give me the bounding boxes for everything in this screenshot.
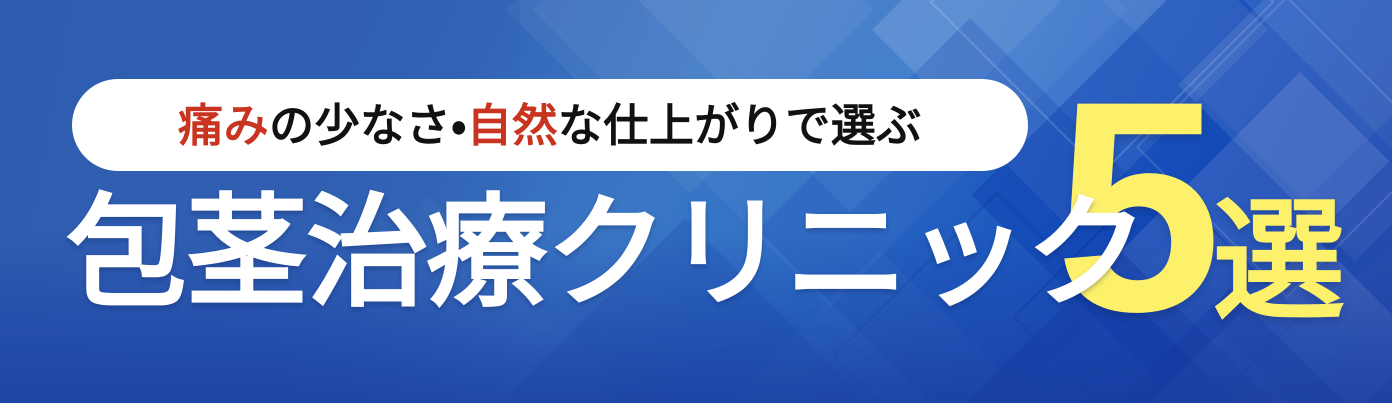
subtitle-highlight-pain: 痛み [178, 100, 269, 151]
subtitle-plain-2: な仕上がりで選ぶ [558, 100, 922, 151]
subtitle-highlight-natural: 自然 [467, 100, 558, 151]
subtitle-pill: 痛みの少なさ・自然な仕上がりで選ぶ [72, 79, 1028, 171]
promo-banner: 痛みの少なさ・自然な仕上がりで選ぶ 包茎治療クリニック 5 選 [0, 0, 1392, 403]
subtitle-text: 痛みの少なさ・自然な仕上がりで選ぶ [178, 103, 922, 148]
count-suffix-label: 選 [1213, 196, 1345, 328]
headline: 包茎治療クリニック [66, 192, 1146, 314]
headline-text: 包茎治療クリニック [66, 185, 1146, 321]
subtitle-plain-1: の少なさ・ [269, 100, 467, 151]
